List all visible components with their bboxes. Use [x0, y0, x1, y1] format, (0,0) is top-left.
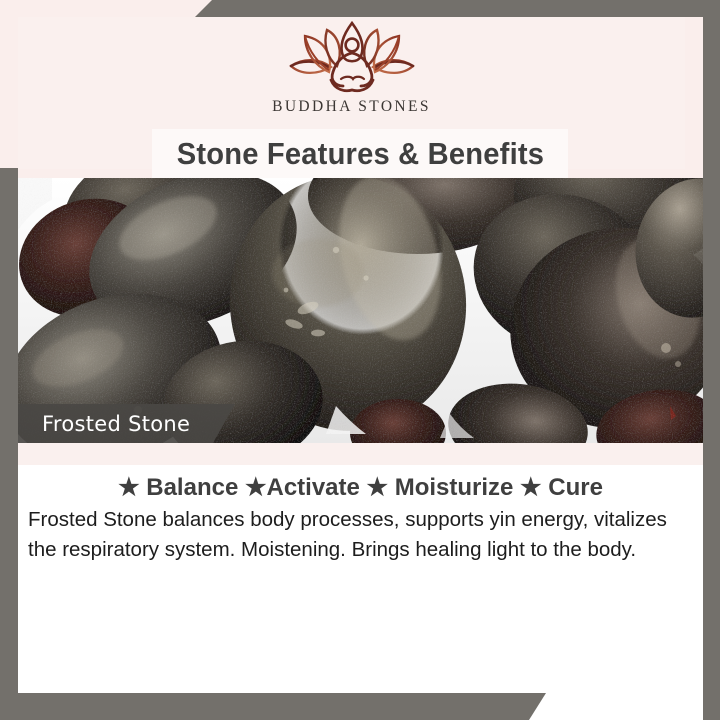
stone-badge-label: Frosted Stone: [42, 412, 190, 436]
benefits-line: ★ Balance ★Activate ★ Moisturize ★ Cure: [18, 473, 703, 502]
divider-strip: [18, 443, 703, 465]
brand-name: BUDDHA STONES: [272, 98, 431, 116]
stone-feature-card: BUDDHA STONES Stone Features & Benefits: [0, 0, 720, 720]
content-panel: ★ Balance ★Activate ★ Moisturize ★ Cure …: [18, 465, 703, 693]
frame-right-bar: [703, 0, 720, 720]
page-title: Stone Features & Benefits: [176, 136, 543, 172]
lotus-meditation-icon: [279, 20, 425, 94]
status-badge: Frosted Stone: [18, 404, 235, 443]
page-title-box: Stone Features & Benefits: [152, 129, 568, 179]
frame-left-bar: [0, 168, 18, 720]
frame-bottom-bar: [0, 693, 546, 720]
frosted-stones-photo: [18, 178, 703, 443]
description-text: Frosted Stone balances body processes, s…: [28, 505, 690, 565]
brand-logo-block: BUDDHA STONES: [0, 20, 703, 116]
frame-top-bar: [195, 0, 720, 17]
